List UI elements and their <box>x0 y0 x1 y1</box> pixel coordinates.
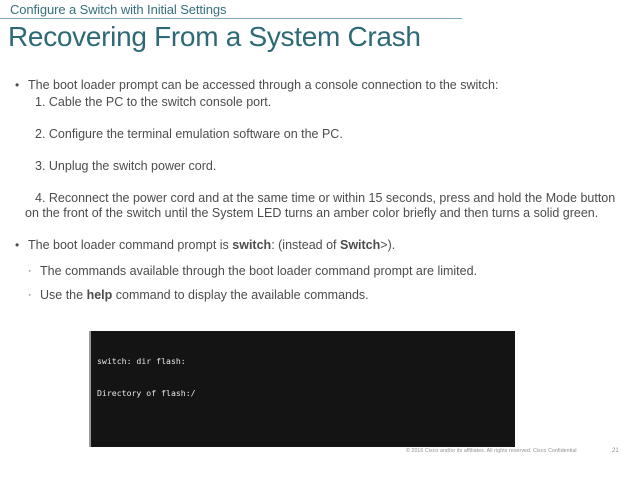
terminal-output: switch: dir flash: Directory of flash:/ … <box>91 331 515 447</box>
list-item-prompt: • The boot loader command prompt is swit… <box>0 238 640 253</box>
bullet-icon: • <box>15 78 19 93</box>
terminal-console[interactable]: switch: dir flash: Directory of flash:/ … <box>89 331 515 447</box>
bullet-icon: • <box>15 238 19 253</box>
sub-item-2-text-post: command to display the available command… <box>112 288 368 302</box>
header-divider <box>0 18 462 19</box>
code-switch-upper: Switch <box>340 238 380 252</box>
page-number: 21 <box>612 448 619 454</box>
code-switch-lower: switch <box>232 238 271 252</box>
sub-item-2-text-pre: Use the <box>40 288 87 302</box>
step-4-continued: on the front of the switch until the Sys… <box>0 206 640 221</box>
terminal-command-line: switch: dir flash: <box>97 356 515 367</box>
step-1: 1. Cable the PC to the switch console po… <box>0 95 640 110</box>
prompt-text-mid: : (instead of <box>271 238 340 252</box>
step-3: 3. Unplug the switch power cord. <box>0 159 640 174</box>
spacer <box>0 142 640 159</box>
spacer <box>0 110 640 127</box>
intro-text: The boot loader prompt can be accessed t… <box>28 78 498 92</box>
prompt-text-pre: The boot loader command prompt is <box>28 238 232 252</box>
slide-footer: © 2016 Cisco and/or its affiliates. All … <box>0 446 640 462</box>
terminal-blank-line <box>97 420 515 428</box>
sub-list-item-help: · Use the help command to display the av… <box>0 288 640 303</box>
page-title: Recovering From a System Crash <box>8 21 421 53</box>
spacer <box>0 255 640 264</box>
sub-bullet-icon: · <box>28 288 32 303</box>
copyright-text: © 2016 Cisco and/or its affiliates. All … <box>406 448 577 454</box>
spacer <box>0 174 640 191</box>
sub-list-item-limited: · The commands available through the boo… <box>0 264 640 279</box>
prompt-text-post: >). <box>380 238 395 252</box>
spacer <box>0 221 640 238</box>
step-2: 2. Configure the terminal emulation soft… <box>0 127 640 142</box>
spacer <box>0 281 640 288</box>
breadcrumb-eyebrow: Configure a Switch with Initial Settings <box>10 2 226 17</box>
terminal-directory-line: Directory of flash:/ <box>97 388 515 399</box>
sub-bullet-icon: · <box>28 264 32 279</box>
slide-canvas: Configure a Switch with Initial Settings… <box>0 0 640 480</box>
step-4: 4. Reconnect the power cord and at the s… <box>0 191 640 206</box>
sub-item-1-text: The commands available through the boot … <box>40 264 477 278</box>
list-item-intro: • The boot loader prompt can be accessed… <box>0 78 640 93</box>
code-help: help <box>87 288 113 302</box>
slide-body: • The boot loader prompt can be accessed… <box>0 78 640 305</box>
